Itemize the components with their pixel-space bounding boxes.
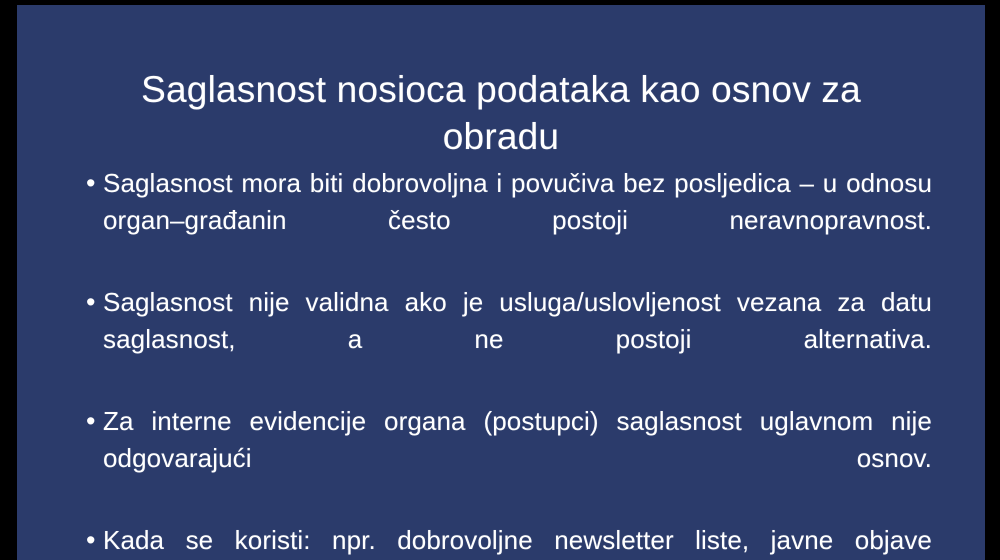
bullet-point-icon: • xyxy=(72,403,103,440)
slide-title: Saglasnost nosioca podataka kao osnov za… xyxy=(101,66,901,160)
bullet-point-icon: • xyxy=(72,284,103,321)
bullet-text: Kada se koristi: npr. dobrovoljne newsle… xyxy=(103,522,932,560)
list-item: • Saglasnost mora biti dobrovoljna i pov… xyxy=(72,165,932,276)
bullet-point-icon: • xyxy=(72,522,103,559)
presentation-slide: Saglasnost nosioca podataka kao osnov za… xyxy=(17,5,985,560)
bullet-point-icon: • xyxy=(72,165,103,202)
list-item: • Za interne evidencije organa (postupci… xyxy=(72,403,932,514)
bullet-text: Saglasnost nije validna ako je usluga/us… xyxy=(103,284,932,395)
bullet-list: • Saglasnost mora biti dobrovoljna i pov… xyxy=(72,165,932,560)
slide-letterbox-frame: Saglasnost nosioca podataka kao osnov za… xyxy=(0,0,1000,560)
bullet-text: Za interne evidencije organa (postupci) … xyxy=(103,403,932,514)
list-item: • Saglasnost nije validna ako je usluga/… xyxy=(72,284,932,395)
bullet-text: Saglasnost mora biti dobrovoljna i povuč… xyxy=(103,165,932,276)
list-item: • Kada se koristi: npr. dobrovoljne news… xyxy=(72,522,932,560)
